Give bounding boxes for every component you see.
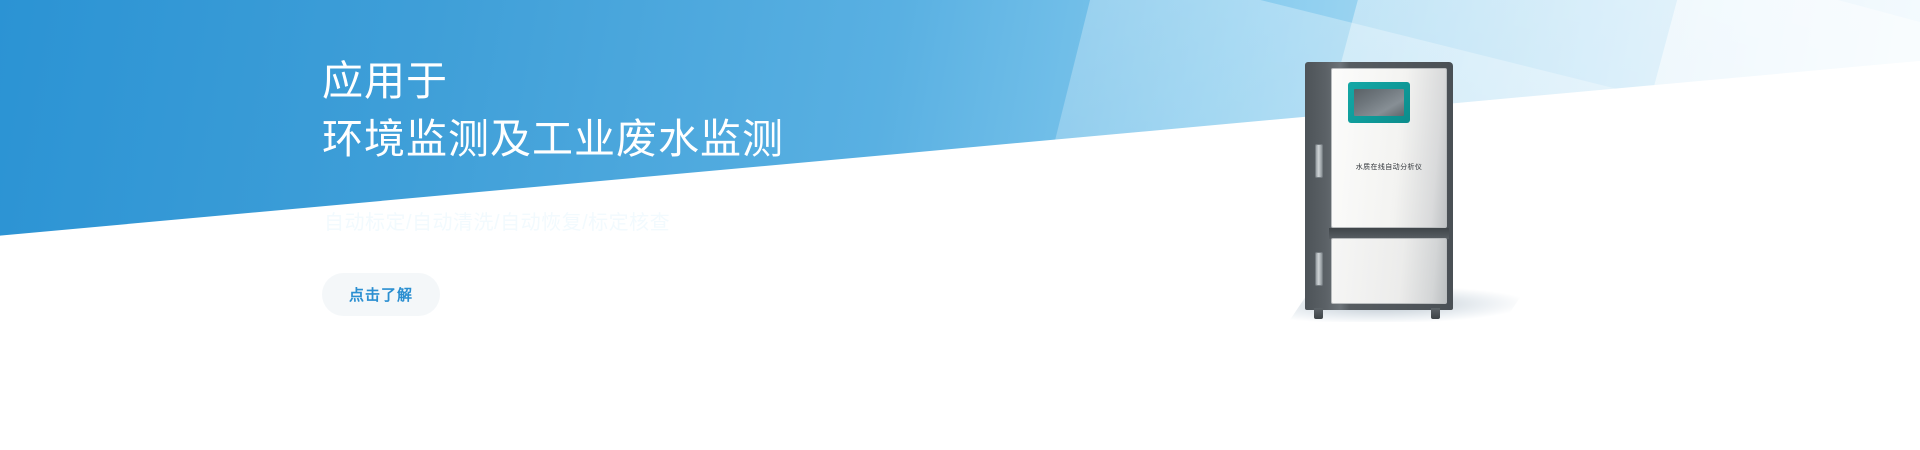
device-product-label: 水质在线自动分析仪: [1335, 162, 1443, 172]
device-lower-door-handle: [1315, 252, 1323, 286]
device-foot-left: [1314, 308, 1323, 319]
device-display: [1348, 82, 1410, 123]
device-lower-door: [1331, 238, 1447, 304]
promo-banner: 应用于 环境监测及工业废水监测 自动标定/自动清洗/自动恢复/标定核查 点击了解…: [0, 0, 1920, 450]
product-cabinet-analyzer: 水质在线自动分析仪: [1305, 62, 1453, 310]
learn-more-button[interactable]: 点击了解: [322, 273, 440, 316]
banner-headline-line-1: 应用于: [322, 52, 1022, 110]
banner-copy-block: 应用于 环境监测及工业废水监测 自动标定/自动清洗/自动恢复/标定核查 点击了解: [322, 52, 1022, 316]
device-foot-right: [1431, 308, 1440, 319]
device-upper-door-handle: [1315, 144, 1323, 178]
banner-headline-line-2: 环境监测及工业废水监测: [322, 110, 1022, 168]
banner-subheading: 自动标定/自动清洗/自动恢复/标定核查: [324, 206, 1022, 235]
device-display-glass: [1354, 89, 1404, 116]
